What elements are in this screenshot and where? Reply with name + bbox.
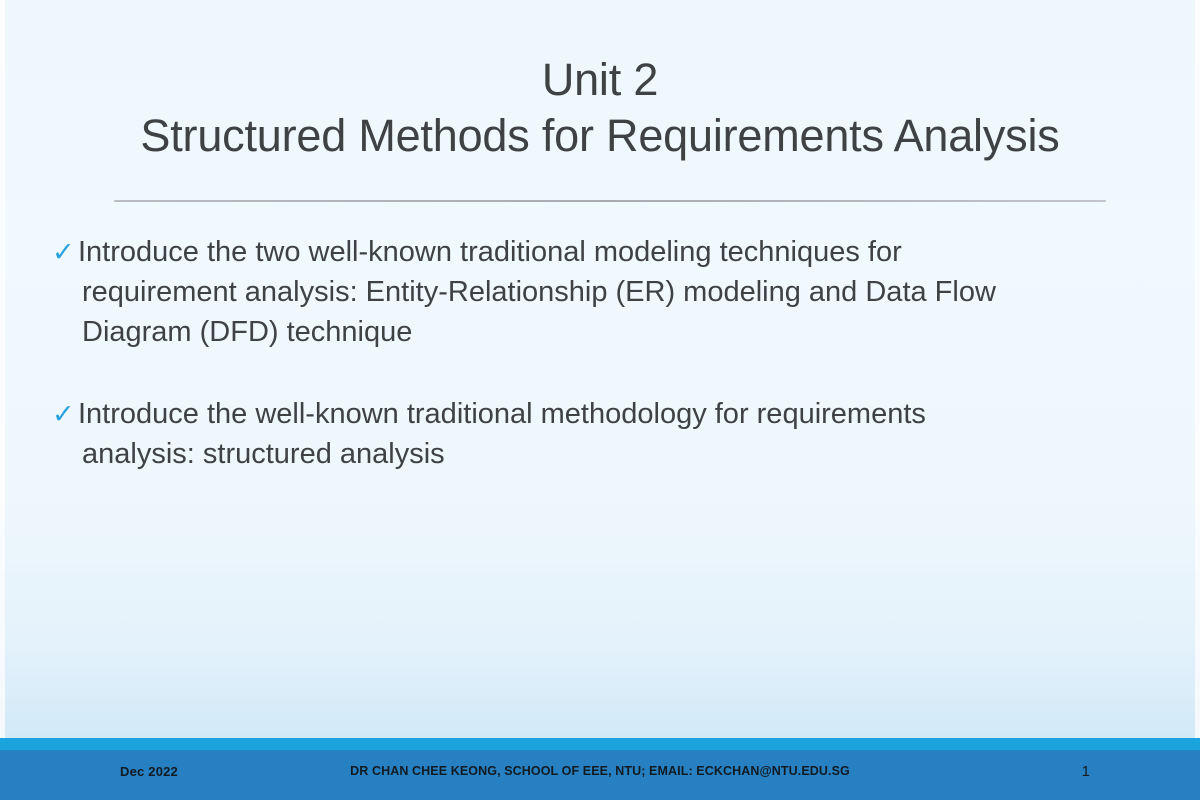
presentation-slide: Unit 2 Structured Methods for Requiremen… [0, 0, 1200, 800]
title-line-2: Structured Methods for Requirements Anal… [0, 108, 1200, 164]
bullet-line: requirement analysis: Entity-Relationshi… [80, 272, 1162, 312]
slide-title: Unit 2 Structured Methods for Requiremen… [0, 52, 1200, 164]
title-divider [114, 200, 1106, 202]
bullet-line: Introduce the well-known traditional met… [80, 394, 1162, 434]
bullet-line: Diagram (DFD) technique [80, 312, 1162, 352]
bullet-text: Introduce the well-known traditional met… [80, 394, 1162, 474]
title-line-1: Unit 2 [0, 52, 1200, 108]
checkmark-icon: ✓ [52, 232, 80, 272]
bullet-line: analysis: structured analysis [80, 434, 1162, 474]
footer-attribution: DR CHAN CHEE KEONG, SCHOOL OF EEE, NTU; … [0, 764, 1200, 778]
bullet-text: Introduce the two well-known traditional… [80, 232, 1162, 352]
checkmark-icon: ✓ [52, 394, 80, 434]
accent-band [0, 738, 1200, 750]
footer-page-number: 1 [1082, 763, 1090, 780]
bullet-item: ✓ Introduce the two well-known tradition… [52, 232, 1162, 352]
bullet-line: Introduce the two well-known traditional… [80, 232, 1162, 272]
footer-content: Dec 2022 DR CHAN CHEE KEONG, SCHOOL OF E… [0, 750, 1200, 800]
slide-footer: Dec 2022 DR CHAN CHEE KEONG, SCHOOL OF E… [0, 750, 1200, 800]
bullet-item: ✓ Introduce the well-known traditional m… [52, 394, 1162, 474]
slide-body: ✓ Introduce the two well-known tradition… [52, 232, 1162, 474]
